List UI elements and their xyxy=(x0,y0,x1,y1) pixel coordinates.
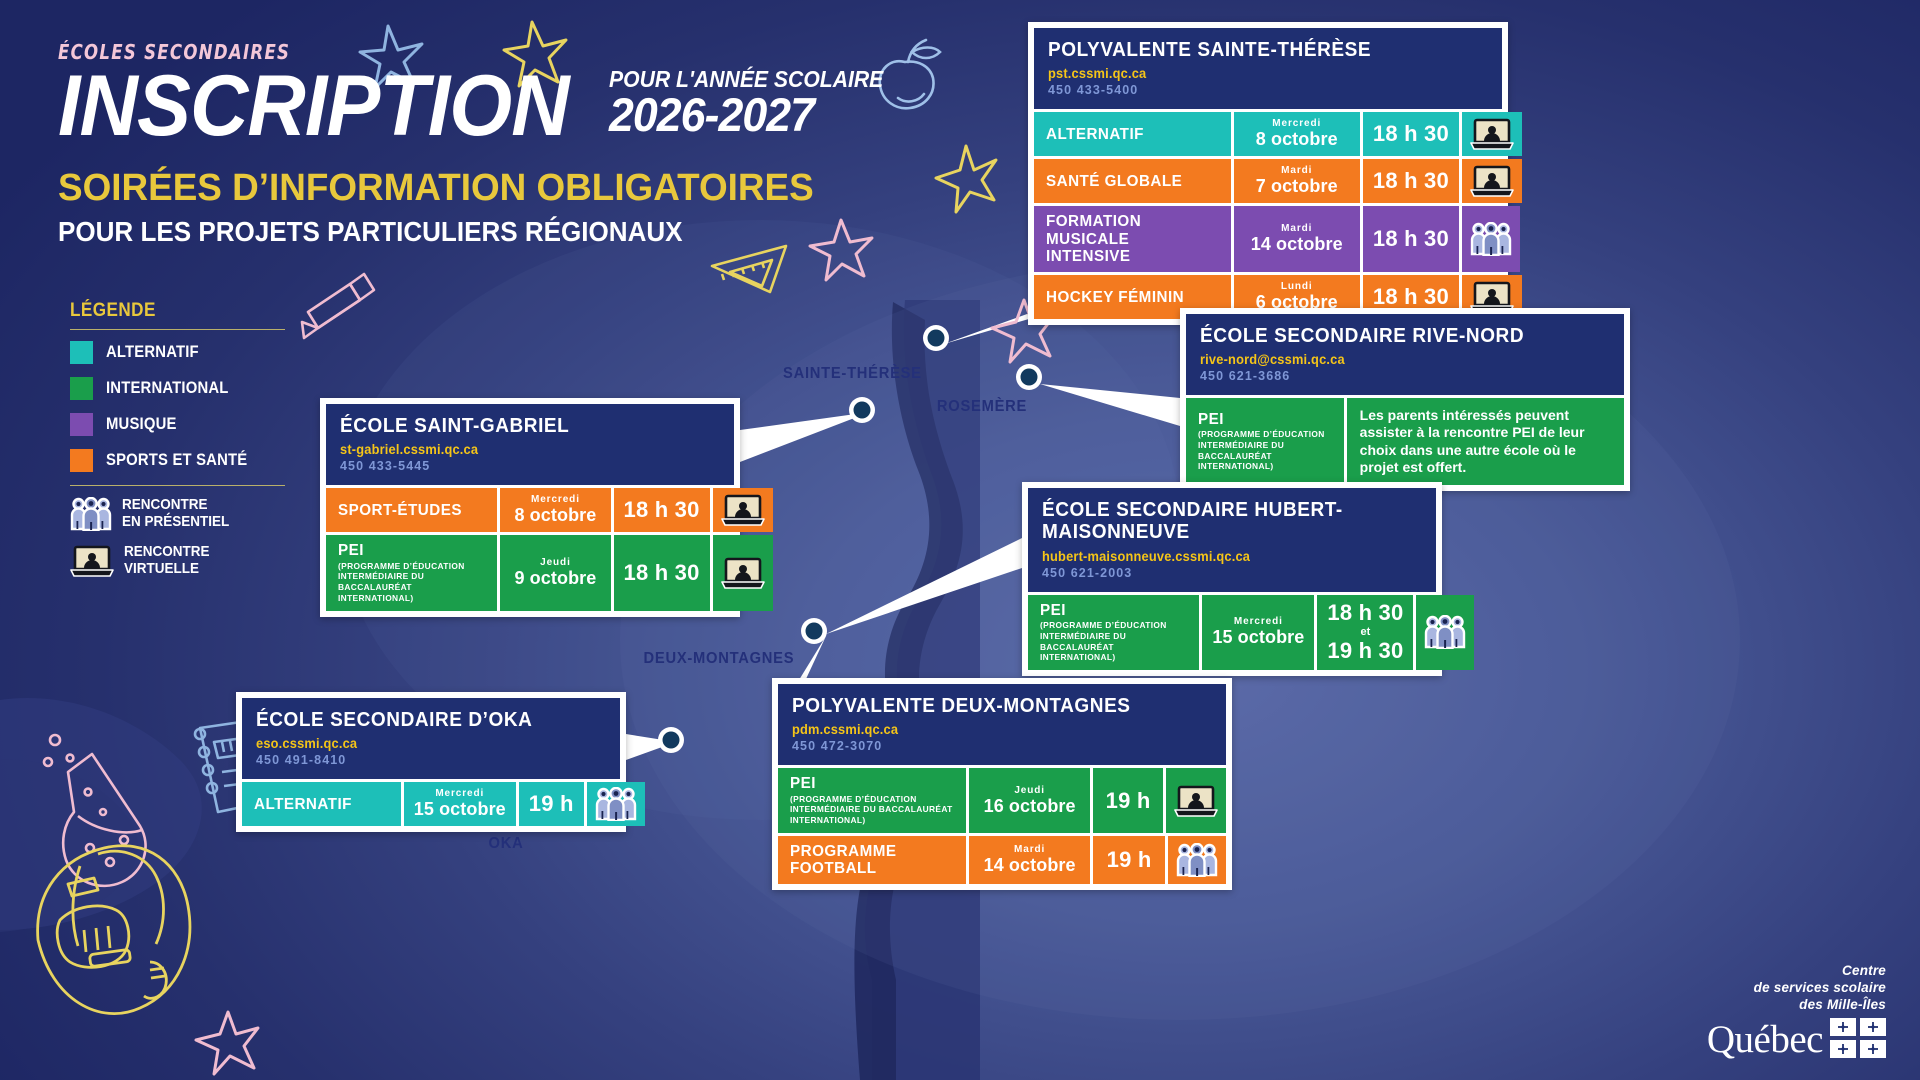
date: 8 octobre xyxy=(1256,129,1338,150)
program-row: FORMATION MUSICALE INTENSIVE Mardi 14 oc… xyxy=(1034,206,1502,272)
meeting-type-cell xyxy=(1462,206,1520,272)
program-cell: PEI (PROGRAMME D’ÉDUCATION INTERMÉDIAIRE… xyxy=(1186,398,1344,484)
people-icon xyxy=(1424,615,1466,649)
people-icon xyxy=(70,497,112,531)
school-phone[interactable]: 450 621-3686 xyxy=(1200,369,1610,383)
org-line-2: de services scolaire xyxy=(1707,980,1886,997)
school-website[interactable]: hubert-maisonneuve.cssmi.qc.ca xyxy=(1042,549,1403,564)
program-row: PEI (PROGRAMME D’ÉDUCATION INTERMÉDIAIRE… xyxy=(1186,398,1624,484)
weekday: Lundi xyxy=(1281,281,1313,292)
weekday: Mardi xyxy=(1281,165,1312,176)
card-header: ÉCOLE SECONDAIRE HUBERT-MAISONNEUVE hube… xyxy=(1028,488,1436,592)
legend-swatch xyxy=(70,413,93,436)
time-cell: 18 h 30 xyxy=(614,488,710,532)
school-website[interactable]: rive-nord@cssmi.qc.ca xyxy=(1200,352,1590,367)
program-name: ALTERNATIF xyxy=(1046,126,1144,143)
time-cell: 19 h xyxy=(519,782,584,826)
legend-swatch xyxy=(70,449,93,472)
date: 14 octobre xyxy=(1251,234,1343,255)
school-name: ÉCOLE SAINT-GABRIEL xyxy=(340,415,701,437)
program-rows: PEI (PROGRAMME D’ÉDUCATION INTERMÉDIAIRE… xyxy=(1028,595,1436,670)
meeting-type-cell xyxy=(1416,595,1474,670)
poster-canvas: ÉCOLES SECONDAIRES INSCRIPTION POUR L'AN… xyxy=(0,0,1920,1080)
meeting-time: 18 h 30 xyxy=(624,560,700,586)
legend-meeting-label: RENCONTRE EN PRÉSENTIEL xyxy=(122,497,229,531)
time-cell: 18 h 30 xyxy=(614,535,710,610)
program-name: PEI xyxy=(790,775,816,792)
laptop-icon xyxy=(70,544,114,578)
legend-swatch xyxy=(70,377,93,400)
legend-color-item: ALTERNATIF xyxy=(70,341,285,364)
time-cell: 18 h 30 xyxy=(1363,112,1459,156)
org-line-1: Centre xyxy=(1707,963,1886,980)
weekday: Mercredi xyxy=(435,788,484,799)
weekday: Jeudi xyxy=(540,557,571,568)
laptop-icon xyxy=(1174,784,1218,818)
map-label-rosem-re: ROSEMÈRE xyxy=(937,398,1027,416)
program-cell: ALTERNATIF xyxy=(1034,112,1231,156)
legend-meeting-item: RENCONTRE VIRTUELLE xyxy=(70,544,285,578)
date: 9 octobre xyxy=(514,568,596,589)
school-name: ÉCOLE SECONDAIRE HUBERT-MAISONNEUVE xyxy=(1042,499,1403,544)
date-cell: Mercredi 8 octobre xyxy=(500,488,610,532)
school-website[interactable]: eso.cssmi.qc.ca xyxy=(256,736,589,751)
weekday: Jeudi xyxy=(1014,785,1045,796)
date: 15 octobre xyxy=(414,799,506,820)
legend-color-label: INTERNATIONAL xyxy=(106,379,229,398)
program-name: PROGRAMME FOOTBALL xyxy=(790,843,946,878)
meeting-time: 19 h xyxy=(1106,788,1151,814)
note-text: Les parents intéressés peuvent assister … xyxy=(1360,407,1611,475)
program-subtitle: (PROGRAMME D’ÉDUCATION INTERMÉDIAIRE DU … xyxy=(338,561,485,604)
doodle-star-pink-3 xyxy=(196,1012,258,1074)
legend-color-label: ALTERNATIF xyxy=(106,343,199,362)
laptop-icon xyxy=(721,493,765,527)
school-phone[interactable]: 450 491-8410 xyxy=(256,753,606,767)
program-subtitle: (PROGRAMME D’ÉDUCATION INTERMÉDIAIRE DU … xyxy=(790,794,954,826)
meeting-type-cell xyxy=(1462,112,1522,156)
map-label-oka: OKA xyxy=(489,835,524,853)
meeting-time: 18 h 30 xyxy=(1373,226,1449,252)
program-cell: PROGRAMME FOOTBALL xyxy=(778,836,966,885)
meeting-time: 18 h 30 xyxy=(1327,600,1403,626)
program-name: ALTERNATIF xyxy=(254,796,352,813)
time-cell: 18 h 30 xyxy=(1363,206,1459,272)
quebec-flag-icon xyxy=(1830,1018,1886,1058)
program-row: ALTERNATIF Mercredi 8 octobre 18 h 30 xyxy=(1034,112,1502,156)
doodle-pencil-icon xyxy=(302,274,374,338)
legend-divider-top xyxy=(70,329,285,330)
school-website[interactable]: pst.cssmi.qc.ca xyxy=(1048,66,1466,81)
meeting-time: 19 h xyxy=(1107,847,1152,873)
meeting-type-cell xyxy=(1168,836,1226,885)
school-card-polyvalente-sainte-therese: POLYVALENTE SAINTE-THÉRÈSE pst.cssmi.qc.… xyxy=(1028,22,1508,325)
card-header: POLYVALENTE SAINTE-THÉRÈSE pst.cssmi.qc.… xyxy=(1034,28,1502,109)
meeting-time-separator: et xyxy=(1361,626,1371,638)
time-cell: 18 h 30 et 19 h 30 xyxy=(1317,595,1413,670)
laptop-icon xyxy=(721,556,765,590)
legend-color-label: SPORTS ET SANTÉ xyxy=(106,451,247,470)
year-value: 2026-2027 xyxy=(609,91,892,139)
program-row: SANTÉ GLOBALE Mardi 7 octobre 18 h 30 xyxy=(1034,159,1502,203)
legend-color-list: ALTERNATIF INTERNATIONAL MUSIQUE SPORTS … xyxy=(70,341,285,472)
school-name: ÉCOLE SECONDAIRE RIVE-NORD xyxy=(1200,325,1590,347)
program-cell: FORMATION MUSICALE INTENSIVE xyxy=(1034,206,1231,272)
weekday: Mardi xyxy=(1281,223,1312,234)
legend-meeting-label: RENCONTRE VIRTUELLE xyxy=(124,544,210,578)
meeting-type-cell xyxy=(713,535,773,610)
legend: LÉGENDE ALTERNATIF INTERNATIONAL MUSIQUE… xyxy=(70,300,285,591)
school-phone[interactable]: 450 621-2003 xyxy=(1042,566,1422,580)
date-cell: Jeudi 16 octobre xyxy=(969,768,1090,833)
program-name: FORMATION MUSICALE INTENSIVE xyxy=(1046,213,1210,265)
footer-logo: Centre de services scolaire des Mille-Îl… xyxy=(1707,963,1886,1058)
map-label-deux-montagnes: DEUX-MONTAGNES xyxy=(644,650,795,668)
legend-title: LÉGENDE xyxy=(70,300,264,322)
program-name: SPORT-ÉTUDES xyxy=(338,502,462,519)
quebec-wordmark: Québec xyxy=(1707,1021,1823,1058)
program-rows: ALTERNATIF Mercredi 15 octobre 19 h xyxy=(242,782,620,826)
date-cell: Jeudi 9 octobre xyxy=(500,535,610,610)
school-card-ecole-secondaire-hubert-maisonneuve: ÉCOLE SECONDAIRE HUBERT-MAISONNEUVE hube… xyxy=(1022,482,1442,676)
program-cell: SANTÉ GLOBALE xyxy=(1034,159,1231,203)
map-label-sainte-th-r-se: SAINTE-THÉRÈSE xyxy=(783,365,922,383)
date: 8 octobre xyxy=(514,505,596,526)
time-cell: 19 h xyxy=(1093,836,1165,885)
program-rows: PEI (PROGRAMME D’ÉDUCATION INTERMÉDIAIRE… xyxy=(778,768,1226,884)
time-cell: 19 h xyxy=(1093,768,1163,833)
school-website[interactable]: st-gabriel.cssmi.qc.ca xyxy=(340,442,701,457)
program-rows: ALTERNATIF Mercredi 8 octobre 18 h 30 SA… xyxy=(1034,112,1502,319)
meeting-time-2: 19 h 30 xyxy=(1327,638,1403,664)
school-year-block: POUR L'ANNÉE SCOLAIRE 2026-2027 xyxy=(609,68,907,145)
weekday: Mercredi xyxy=(531,494,580,505)
school-phone[interactable]: 450 472-3070 xyxy=(792,739,1212,753)
program-subtitle: (PROGRAMME D’ÉDUCATION INTERMÉDIAIRE DU … xyxy=(1040,620,1187,663)
program-name: PEI xyxy=(1198,411,1224,428)
program-cell: PEI (PROGRAMME D’ÉDUCATION INTERMÉDIAIRE… xyxy=(778,768,966,833)
program-cell: ALTERNATIF xyxy=(242,782,401,826)
date: 15 octobre xyxy=(1212,627,1304,648)
program-row: PEI (PROGRAMME D’ÉDUCATION INTERMÉDIAIRE… xyxy=(326,535,734,610)
card-header: ÉCOLE SECONDAIRE D’OKA eso.cssmi.qc.ca 4… xyxy=(242,698,620,779)
weekday: Mercredi xyxy=(1234,616,1283,627)
legend-divider-bottom xyxy=(70,485,285,486)
program-name: SANTÉ GLOBALE xyxy=(1046,173,1182,190)
date: 14 octobre xyxy=(984,855,1076,876)
school-card-polyvalente-deux-montagnes: POLYVALENTE DEUX-MONTAGNES pdm.cssmi.qc.… xyxy=(772,678,1232,890)
meeting-type-cell xyxy=(713,488,773,532)
meeting-time: 18 h 30 xyxy=(624,497,700,523)
meeting-time: 18 h 30 xyxy=(1373,121,1449,147)
page-title: INSCRIPTION xyxy=(58,69,569,145)
school-phone[interactable]: 450 433-5445 xyxy=(340,459,720,473)
school-website[interactable]: pdm.cssmi.qc.ca xyxy=(792,722,1191,737)
date: 16 octobre xyxy=(984,796,1076,817)
legend-meeting-list: RENCONTRE EN PRÉSENTIEL RENCONTRE VIRTUE… xyxy=(70,497,285,578)
program-row: PROGRAMME FOOTBALL Mardi 14 octobre 19 h xyxy=(778,836,1226,885)
program-subtitle: (PROGRAMME D’ÉDUCATION INTERMÉDIAIRE DU … xyxy=(1198,429,1332,472)
date-cell: Mercredi 15 octobre xyxy=(404,782,516,826)
people-icon xyxy=(1470,222,1512,256)
school-phone[interactable]: 450 433-5400 xyxy=(1048,83,1488,97)
legend-color-label: MUSIQUE xyxy=(106,415,177,434)
weekday: Mercredi xyxy=(1272,118,1321,129)
program-cell: PEI (PROGRAMME D’ÉDUCATION INTERMÉDIAIRE… xyxy=(1028,595,1199,670)
date-cell: Mercredi 15 octobre xyxy=(1202,595,1314,670)
program-row: SPORT-ÉTUDES Mercredi 8 octobre 18 h 30 xyxy=(326,488,734,532)
poster-header: ÉCOLES SECONDAIRES INSCRIPTION POUR L'AN… xyxy=(58,40,1018,248)
card-header: ÉCOLE SAINT-GABRIEL st-gabriel.cssmi.qc.… xyxy=(326,404,734,485)
legend-color-item: INTERNATIONAL xyxy=(70,377,285,400)
laptop-icon xyxy=(1470,164,1514,198)
program-cell: PEI (PROGRAMME D’ÉDUCATION INTERMÉDIAIRE… xyxy=(326,535,497,610)
program-name: PEI xyxy=(1040,602,1066,619)
card-header: ÉCOLE SECONDAIRE RIVE-NORD rive-nord@css… xyxy=(1186,314,1624,395)
laptop-icon xyxy=(1470,117,1514,151)
meeting-type-cell xyxy=(1462,159,1522,203)
org-line-3: des Mille-Îles xyxy=(1707,997,1886,1014)
legend-meeting-item: RENCONTRE EN PRÉSENTIEL xyxy=(70,497,285,531)
meeting-time: 19 h xyxy=(529,791,574,817)
note-cell: Les parents intéressés peuvent assister … xyxy=(1347,398,1624,484)
header-subtitle: SOIRÉES D’INFORMATION OBLIGATOIRES xyxy=(58,167,989,210)
header-subtitle-2: POUR LES PROJETS PARTICULIERS RÉGIONAUX xyxy=(58,216,951,248)
legend-color-item: SPORTS ET SANTÉ xyxy=(70,449,285,472)
program-row: ALTERNATIF Mercredi 15 octobre 19 h xyxy=(242,782,620,826)
program-name: HOCKEY FÉMININ xyxy=(1046,289,1184,306)
date: 7 octobre xyxy=(1256,176,1338,197)
legend-color-item: MUSIQUE xyxy=(70,413,285,436)
date-cell: Mercredi 8 octobre xyxy=(1234,112,1360,156)
legend-swatch xyxy=(70,341,93,364)
date-cell: Mardi 14 octobre xyxy=(969,836,1090,885)
school-card-ecole-secondaire-d-oka: ÉCOLE SECONDAIRE D’OKA eso.cssmi.qc.ca 4… xyxy=(236,692,626,832)
school-name: POLYVALENTE SAINTE-THÉRÈSE xyxy=(1048,39,1466,61)
time-cell: 18 h 30 xyxy=(1363,159,1459,203)
meeting-time: 18 h 30 xyxy=(1373,284,1449,310)
program-name: PEI xyxy=(338,542,364,559)
program-rows: PEI (PROGRAMME D’ÉDUCATION INTERMÉDIAIRE… xyxy=(1186,398,1624,484)
school-name: ÉCOLE SECONDAIRE D’OKA xyxy=(256,709,589,731)
people-icon xyxy=(595,787,637,821)
card-header: POLYVALENTE DEUX-MONTAGNES pdm.cssmi.qc.… xyxy=(778,684,1226,765)
date-cell: Mardi 7 octobre xyxy=(1234,159,1360,203)
people-icon xyxy=(1176,843,1218,877)
program-row: PEI (PROGRAMME D’ÉDUCATION INTERMÉDIAIRE… xyxy=(778,768,1226,833)
program-row: PEI (PROGRAMME D’ÉDUCATION INTERMÉDIAIRE… xyxy=(1028,595,1436,670)
meeting-time: 18 h 30 xyxy=(1373,168,1449,194)
date-cell: Mardi 14 octobre xyxy=(1234,206,1360,272)
meeting-type-cell xyxy=(587,782,645,826)
school-name: POLYVALENTE DEUX-MONTAGNES xyxy=(792,695,1191,717)
program-rows: SPORT-ÉTUDES Mercredi 8 octobre 18 h 30 … xyxy=(326,488,734,610)
program-cell: SPORT-ÉTUDES xyxy=(326,488,497,532)
weekday: Mardi xyxy=(1014,844,1045,855)
meeting-type-cell xyxy=(1166,768,1226,833)
school-card-ecole-saint-gabriel: ÉCOLE SAINT-GABRIEL st-gabriel.cssmi.qc.… xyxy=(320,398,740,617)
school-card-ecole-secondaire-rive-nord: ÉCOLE SECONDAIRE RIVE-NORD rive-nord@css… xyxy=(1180,308,1630,491)
